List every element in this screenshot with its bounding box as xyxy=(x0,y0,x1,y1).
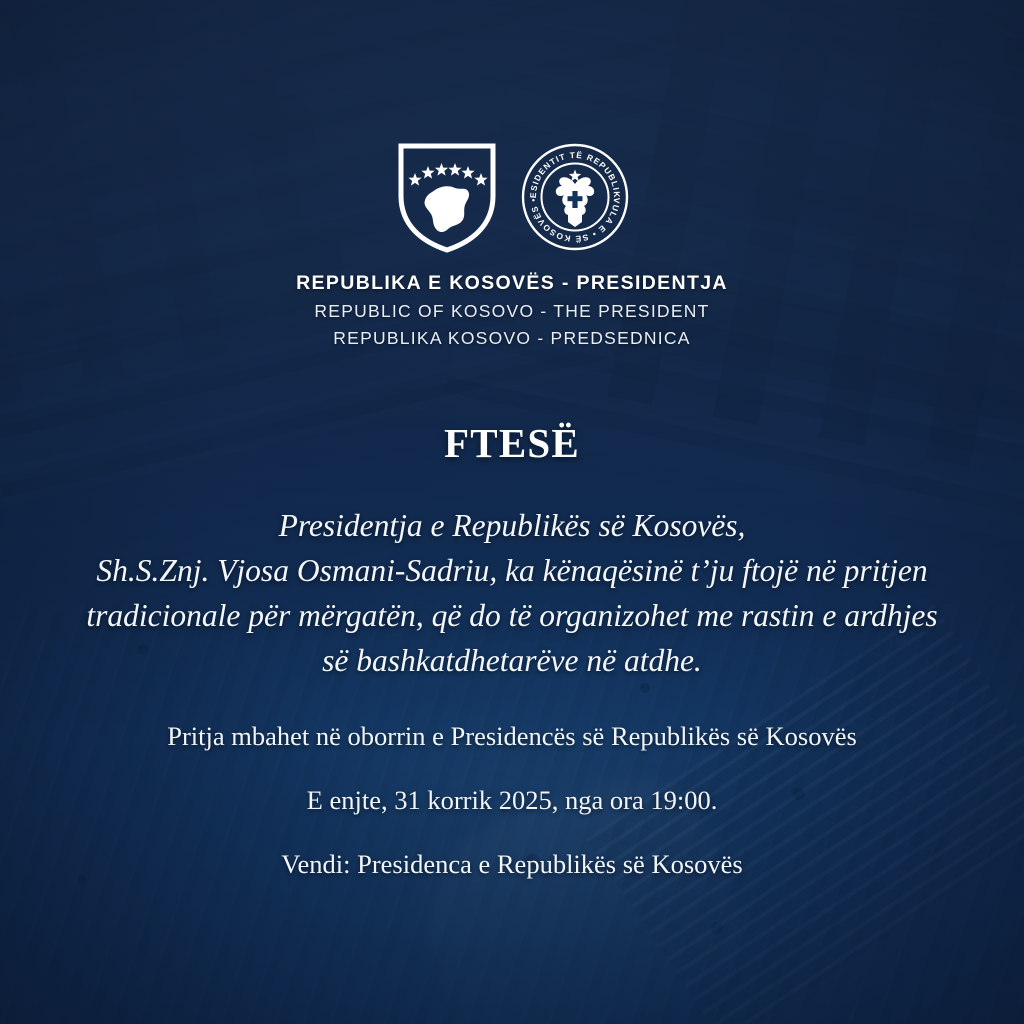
emblem-group: PRESIDENTIT TË REPUBLIKËS VULA E • SË KO… xyxy=(395,138,629,256)
location-note: Pritja mbahet në oborrin e Presidencës s… xyxy=(32,719,992,753)
kosovo-coat-of-arms-icon xyxy=(395,138,499,256)
poster-content: PRESIDENTIT TË REPUBLIKËS VULA E • SË KO… xyxy=(0,0,1024,1024)
body-line-2: Sh.S.Znj. Vjosa Osmani-Sadriu, ka kënaqë… xyxy=(32,548,992,593)
event-venue: Vendi: Presidenca e Republikës së Kosovë… xyxy=(32,847,992,881)
invitation-poster: PRESIDENTIT TË REPUBLIKËS VULA E • SË KO… xyxy=(0,0,1024,1024)
org-line-english: REPUBLIC OF KOSOVO - THE PRESIDENT xyxy=(296,301,728,322)
org-line-albanian: REPUBLIKA E KOSOVËS - PRESIDENTJA xyxy=(296,272,728,295)
body-line-1: Presidentja e Republikës së Kosovës, xyxy=(32,503,992,548)
body-line-4: së bashkatdhetarëve në atdhe. xyxy=(32,638,992,683)
org-line-serbian: REPUBLIKA KOSOVO - PREDSEDNICA xyxy=(296,328,728,349)
presidential-seal-icon: PRESIDENTIT TË REPUBLIKËS VULA E • SË KO… xyxy=(521,143,629,251)
invitation-body: Presidentja e Republikës së Kosovës, Sh.… xyxy=(32,503,992,683)
page-title: FTESË xyxy=(444,419,580,467)
event-datetime: E enjte, 31 korrik 2025, nga ora 19:00. xyxy=(32,783,992,817)
organization-header: REPUBLIKA E KOSOVËS - PRESIDENTJA REPUBL… xyxy=(296,272,728,349)
body-line-3: tradicionale për mërgatën, që do të orga… xyxy=(32,593,992,638)
